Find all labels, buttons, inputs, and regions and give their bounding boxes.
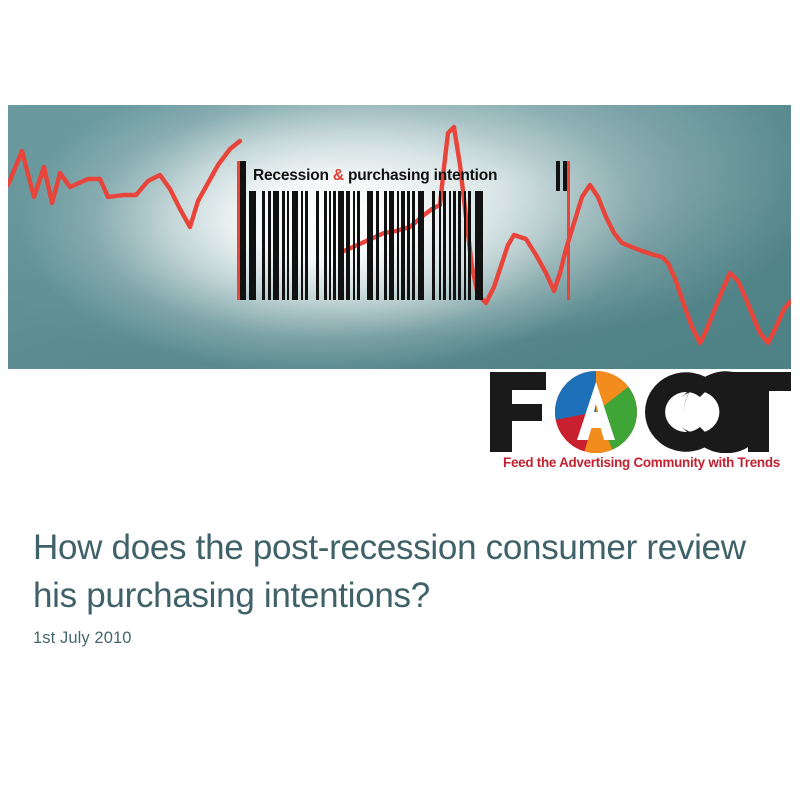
fact-letter-f — [490, 372, 546, 452]
barcode-title-row: Recession & purchasing intention — [240, 161, 567, 191]
slide-date: 1st July 2010 — [33, 629, 132, 648]
barcode-title-right-bar-outer — [563, 161, 567, 191]
fact-wordmark — [488, 368, 793, 453]
fact-circle-mark — [555, 371, 637, 453]
barcode-title-suffix: purchasing intention — [344, 167, 497, 184]
barcode-title-right-bar-inner — [556, 161, 560, 191]
barcode-title-ampersand: & — [333, 167, 344, 184]
barcode-right-rail — [567, 161, 570, 300]
barcode-title-prefix: Recession — [253, 167, 333, 184]
barcode-title-text: Recession & purchasing intention — [246, 168, 556, 184]
fact-logo: Feed the Advertising Community with Tren… — [488, 368, 793, 478]
barcode-bars — [240, 191, 567, 300]
barcode-graphic: Recession & purchasing intention — [240, 161, 567, 300]
page-title: How does the post-recession consumer rev… — [33, 524, 763, 619]
fact-tagline: Feed the Advertising Community with Tren… — [490, 456, 793, 469]
slide-canvas: Recession & purchasing intention — [0, 0, 800, 800]
hero-banner: Recession & purchasing intention — [8, 105, 791, 369]
trend-line-left — [8, 141, 240, 227]
